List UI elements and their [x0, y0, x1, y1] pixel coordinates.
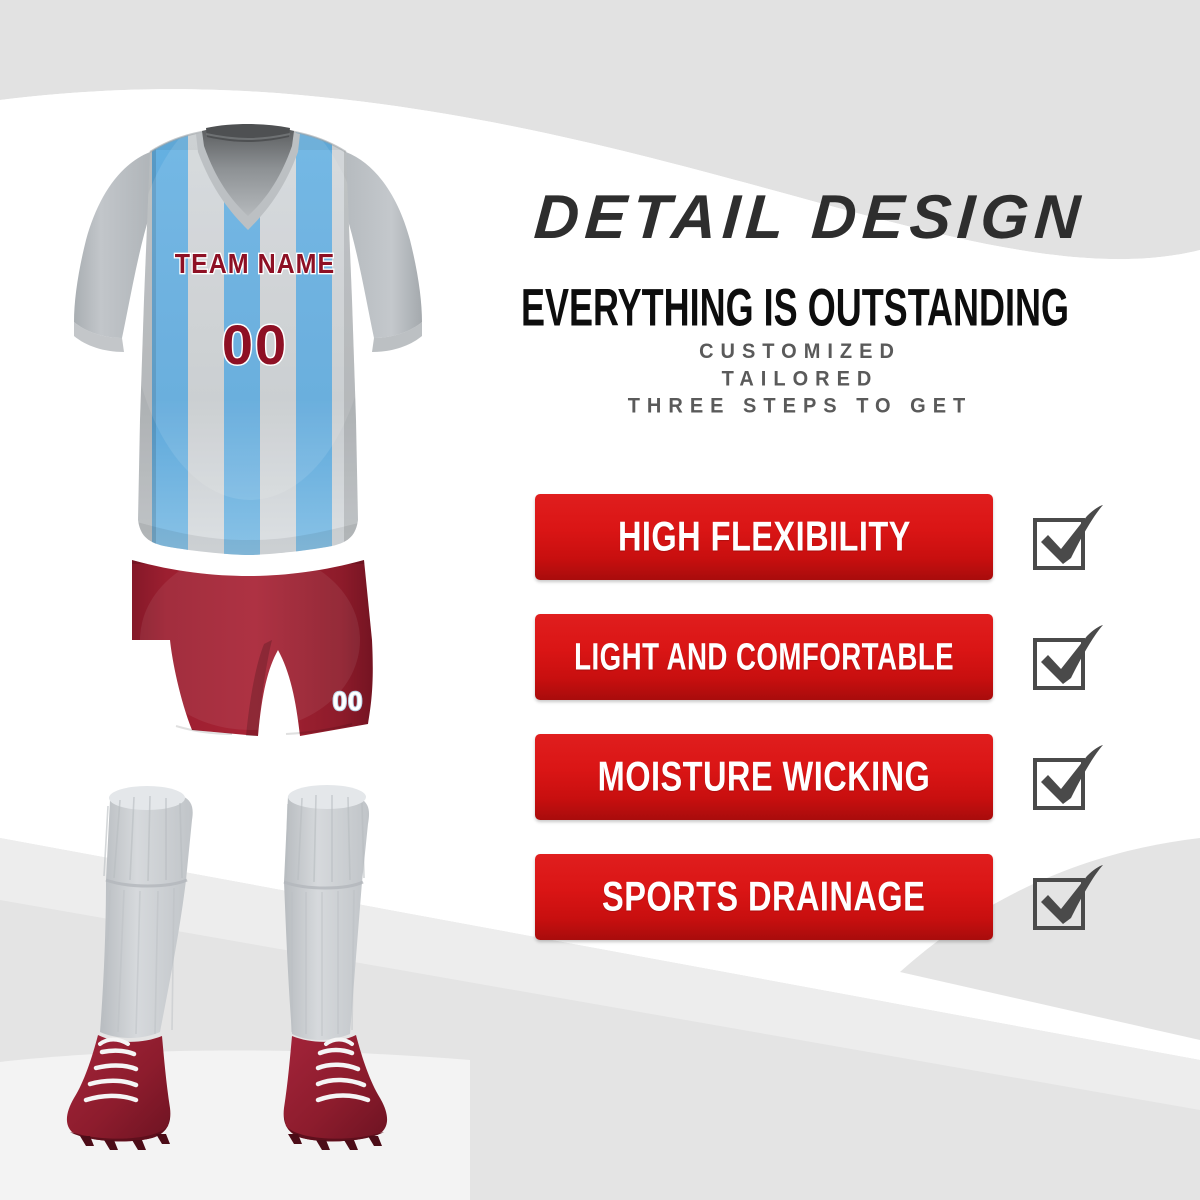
info-panel: DETAIL DESIGN EVERYTHING IS OUTSTANDING …: [440, 0, 1200, 1200]
feature-row: MOISTURE WICKING: [535, 734, 1155, 820]
checkmark-icon: [1027, 622, 1105, 694]
feature-badge-light-and-comfortable[interactable]: LIGHT AND COMFORTABLE: [535, 614, 993, 700]
feature-badge-moisture-wicking[interactable]: MOISTURE WICKING: [535, 734, 993, 820]
jersey-number-text: 00: [170, 312, 340, 377]
shorts-number-text: 00: [318, 686, 378, 717]
feature-label: HIGH FLEXIBILITY: [618, 513, 911, 560]
feature-label: LIGHT AND COMFORTABLE: [574, 635, 954, 678]
feature-label: SPORTS DRAINAGE: [602, 873, 925, 920]
soccer-kit-illustration: [0, 0, 500, 1200]
feature-row: SPORTS DRAINAGE: [535, 854, 1155, 940]
jersey-team-name-text: TEAM NAME: [160, 248, 350, 280]
feature-badge-sports-drainage[interactable]: SPORTS DRAINAGE: [535, 854, 993, 940]
checkmark-icon: [1027, 502, 1105, 574]
feature-badge-high-flexibility[interactable]: HIGH FLEXIBILITY: [535, 494, 993, 580]
checkmark-icon: [1027, 742, 1105, 814]
feature-label: MOISTURE WICKING: [598, 753, 931, 800]
feature-row: HIGH FLEXIBILITY: [535, 494, 1155, 580]
feature-list: HIGH FLEXIBILITY LIGHT AND COMFORTABLE M…: [440, 0, 1200, 1200]
checkmark-icon: [1027, 862, 1105, 934]
feature-row: LIGHT AND COMFORTABLE: [535, 614, 1155, 700]
product-image: TEAM NAME 00 00: [0, 0, 500, 1200]
